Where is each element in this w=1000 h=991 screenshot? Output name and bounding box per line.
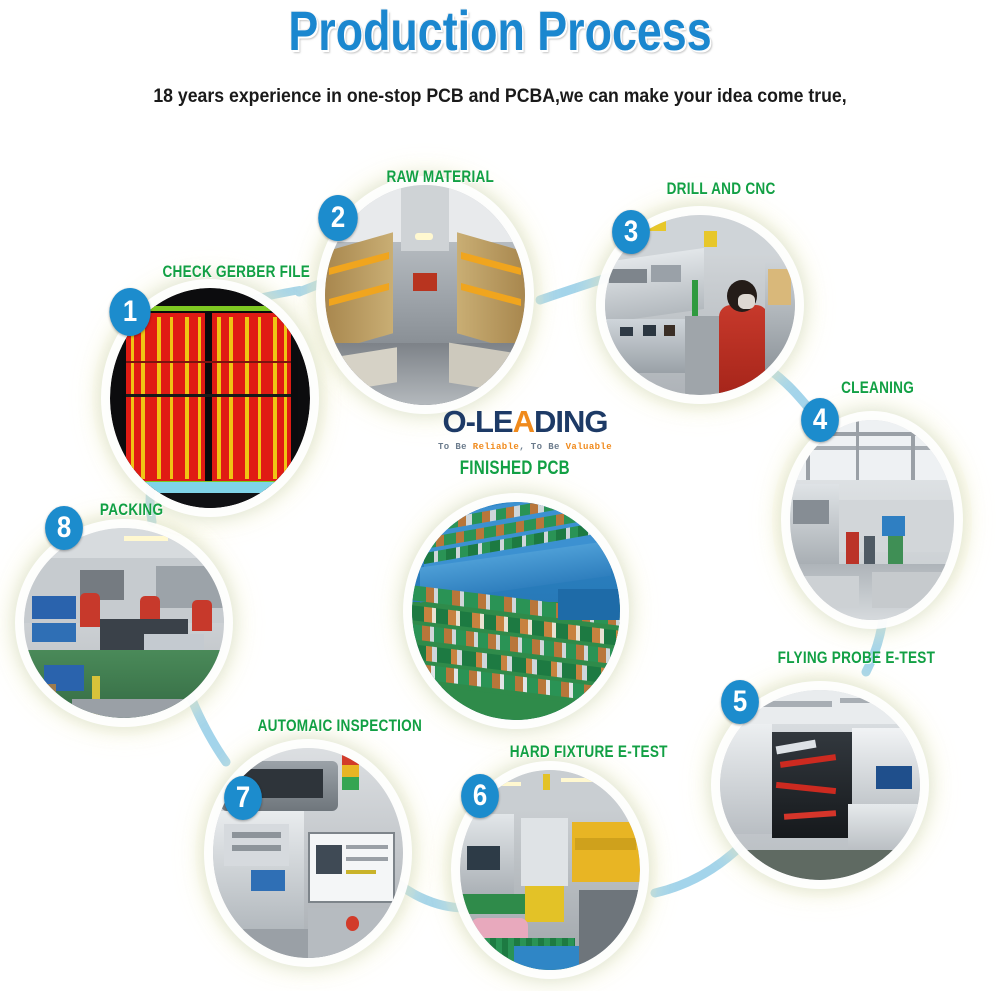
step-badge-5: 5 <box>721 680 759 724</box>
step-badge-4: 4 <box>801 398 839 442</box>
step-caption-3: DRILL AND CNC <box>667 179 776 199</box>
step-badge-1: 1 <box>109 288 150 336</box>
step-caption-6: HARD FIXTURE E-TEST <box>510 742 668 762</box>
step-photo-cleaning <box>790 420 954 620</box>
step-caption-7: AUTOMAIC INSPECTION <box>258 716 423 736</box>
logo-word-highlight: A <box>513 404 534 439</box>
step-caption-2: RAW MATERIAL <box>386 167 494 187</box>
tagline-part1: To Be <box>438 442 473 452</box>
step-badge-6: 6 <box>461 774 499 818</box>
logo-word-part1: O-LE <box>443 404 513 439</box>
logo-wordmark: O-LEADING <box>435 406 615 437</box>
step-badge-7: 7 <box>224 776 262 820</box>
step-caption-8: PACKING <box>100 500 163 520</box>
company-logo: O-LEADING To Be Reliable, To Be Valuable <box>435 406 615 452</box>
tagline-mid: , To Be <box>519 442 565 452</box>
step-badge-3: 3 <box>612 210 650 254</box>
step-photo-packing <box>24 528 224 718</box>
step-badge-8: 8 <box>45 506 83 550</box>
logo-tagline: To Be Reliable, To Be Valuable <box>435 442 615 452</box>
center-photo-finished-pcb <box>412 502 620 720</box>
tagline-reliable: Reliable <box>473 442 519 452</box>
production-process-infographic: Production Process 18 years experience i… <box>0 0 1000 991</box>
center-caption-finished-pcb: FINISHED PCB <box>460 458 570 480</box>
step-caption-4: CLEANING <box>841 378 914 398</box>
step-badge-2: 2 <box>318 195 358 241</box>
logo-word-part2: DING <box>534 404 608 439</box>
tagline-valuable: Valuable <box>566 442 612 452</box>
step-caption-5: FLYING PROBE E-TEST <box>778 648 935 668</box>
step-caption-1: CHECK GERBER FILE <box>162 262 310 282</box>
